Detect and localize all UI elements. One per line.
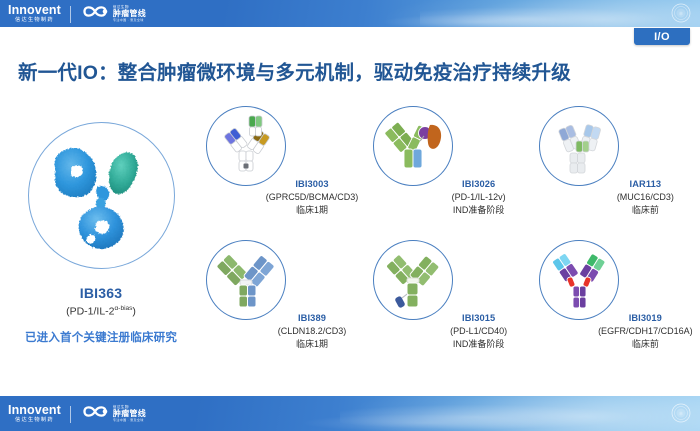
footer-innovent-logo-cn: 信达生物制药 bbox=[15, 418, 54, 423]
footer-oncology-pipeline-logo: 信达生物 肿瘤管线 专注中国 · 惠及全球 bbox=[80, 404, 146, 424]
header-band: Innovent 信达生物制药 信达生物 肿瘤管线 专注中国 · 惠及全球 bbox=[0, 0, 700, 27]
innovent-logo: Innovent 信达生物制药 bbox=[8, 4, 61, 23]
pipeline-card-circle bbox=[206, 240, 286, 320]
protein-structure-icon bbox=[41, 132, 161, 259]
pipeline-card-stage: 临床前 bbox=[585, 204, 700, 216]
pipeline-card-labels: IAR113 (MUC16/CD3) 临床前 bbox=[585, 178, 700, 217]
pipeline-card-name: IAR113 bbox=[585, 178, 700, 191]
pipeline-card-name: IBI3015 bbox=[419, 312, 539, 325]
pipeline-card[interactable]: IBI3015 (PD-L1/CD40) IND准备阶段 bbox=[363, 238, 530, 372]
pipeline-card[interactable]: IBI389 (CLDN18.2/CD3) 临床1期 bbox=[196, 238, 363, 372]
pipeline-card-labels: IBI3026 (PD-1/IL-12v) IND准备阶段 bbox=[419, 178, 539, 217]
pipeline-card-target: (GPRC5D/BCMA/CD3) bbox=[252, 191, 372, 203]
logo-divider bbox=[70, 6, 71, 23]
pipeline-sub-label: 专注中国 · 惠及全球 bbox=[113, 19, 146, 22]
innovent-logo-en: Innovent bbox=[8, 4, 61, 17]
seal-emblem-icon: ⚛ bbox=[671, 3, 691, 23]
pipeline-card-labels: IBI3003 (GPRC5D/BCMA/CD3) 临床1期 bbox=[252, 178, 372, 217]
pipeline-card-labels: IBI389 (CLDN18.2/CD3) 临床1期 bbox=[252, 312, 372, 351]
infinity-icon bbox=[80, 4, 110, 24]
pipeline-card[interactable]: IBI3003 (GPRC5D/BCMA/CD3) 临床1期 bbox=[196, 104, 363, 238]
oncology-pipeline-text: 信达生物 肿瘤管线 专注中国 · 惠及全球 bbox=[113, 6, 146, 23]
pipeline-card-circle bbox=[539, 106, 619, 186]
pipeline-grid: IBI3003 (GPRC5D/BCMA/CD3) 临床1期 bbox=[196, 104, 696, 372]
hero-molecule-name: IBI363 bbox=[80, 285, 122, 301]
pipeline-card-target: (PD-1/IL-12v) bbox=[419, 191, 539, 203]
footer-innovent-logo: Innovent 信达生物制药 bbox=[8, 404, 61, 423]
footer-logo-divider bbox=[70, 406, 71, 423]
pipeline-card-target: (EGFR/CDH17/CD16A) bbox=[585, 325, 700, 337]
hero-status-label: 已进入首个关键注册临床研究 bbox=[25, 329, 177, 345]
hero-circle-frame bbox=[28, 122, 175, 269]
oncology-pipeline-logo: 信达生物 肿瘤管线 专注中国 · 惠及全球 bbox=[80, 4, 146, 24]
pipeline-card[interactable]: IBI3019 (EGFR/CDH17/CD16A) 临床前 bbox=[529, 238, 696, 372]
header-logo-group: Innovent 信达生物制药 信达生物 肿瘤管线 专注中国 · 惠及全球 bbox=[8, 3, 146, 25]
pipeline-card-name: IBI3019 bbox=[585, 312, 700, 325]
innovent-logo-cn: 信达生物制药 bbox=[15, 18, 54, 23]
pipeline-card-circle bbox=[373, 106, 453, 186]
pipeline-card-stage: 临床1期 bbox=[252, 204, 372, 216]
pipeline-card-target: (CLDN18.2/CD3) bbox=[252, 325, 372, 337]
pipeline-card-labels: IBI3015 (PD-L1/CD40) IND准备阶段 bbox=[419, 312, 539, 351]
footer-band: Innovent 信达生物制药 信达生物 肿瘤管线 专注中国 · 惠及全球 bbox=[0, 396, 700, 431]
pipeline-card-target: (PD-L1/CD40) bbox=[419, 325, 539, 337]
pipeline-card-stage: 临床前 bbox=[585, 338, 700, 350]
hero-target-main: (PD-1/IL-2 bbox=[66, 306, 114, 318]
hero-target-end: ) bbox=[132, 306, 136, 318]
pipeline-card-stage: 临床1期 bbox=[252, 338, 372, 350]
antibody-trispecific-purple-icon bbox=[548, 247, 610, 314]
pipeline-card-name: IBI3003 bbox=[252, 178, 372, 191]
antibody-cytokine-fusion-icon bbox=[382, 113, 444, 180]
pipeline-card-name: IBI389 bbox=[252, 312, 372, 325]
footer-wave-decoration bbox=[300, 414, 550, 431]
page-title: 新一代IO：整合肿瘤微环境与多元机制，驱动免疫治疗持续升级 bbox=[18, 56, 571, 85]
antibody-bispecific-icon bbox=[549, 113, 609, 180]
antibody-bispecific-green-blue-icon bbox=[215, 247, 277, 314]
slide-root: Innovent 信达生物制药 信达生物 肿瘤管线 专注中国 · 惠及全球 bbox=[0, 0, 700, 431]
svg-text:⚛: ⚛ bbox=[679, 412, 684, 418]
hero-target-sup: α-bias bbox=[115, 305, 133, 312]
pipeline-card-circle bbox=[373, 240, 453, 320]
pipeline-card[interactable]: IAR113 (MUC16/CD3) 临床前 bbox=[529, 104, 696, 238]
antibody-trispecific-icon bbox=[216, 113, 276, 180]
pipeline-card-circle bbox=[206, 106, 286, 186]
hero-molecule-target: (PD-1/IL-2α-bias) bbox=[66, 305, 136, 318]
infinity-icon bbox=[80, 404, 110, 424]
pipeline-card-target: (MUC16/CD3) bbox=[585, 191, 700, 203]
footer-oncology-pipeline-text: 信达生物 肿瘤管线 专注中国 · 惠及全球 bbox=[113, 406, 146, 423]
pipeline-card-circle bbox=[539, 240, 619, 320]
header-wave-decoration bbox=[380, 14, 580, 27]
pipeline-card-labels: IBI3019 (EGFR/CDH17/CD16A) 临床前 bbox=[585, 312, 700, 351]
pipeline-card[interactable]: IBI3026 (PD-1/IL-12v) IND准备阶段 bbox=[363, 104, 530, 238]
footer-logo-group: Innovent 信达生物制药 信达生物 肿瘤管线 专注中国 · 惠及全球 bbox=[8, 403, 146, 425]
svg-text:⚛: ⚛ bbox=[679, 12, 684, 18]
hero-molecule-card[interactable]: IBI363 (PD-1/IL-2α-bias) 已进入首个关键注册临床研究 bbox=[8, 100, 194, 368]
pipeline-card-stage: IND准备阶段 bbox=[419, 204, 539, 216]
antibody-bispecific-green-icon bbox=[382, 247, 444, 314]
seal-emblem-icon: ⚛ bbox=[671, 403, 691, 423]
io-section-badge[interactable]: I/O bbox=[634, 28, 690, 45]
pipeline-card-stage: IND准备阶段 bbox=[419, 338, 539, 350]
pipeline-card-name: IBI3026 bbox=[419, 178, 539, 191]
footer-pipeline-sub-label: 专注中国 · 惠及全球 bbox=[113, 419, 146, 422]
footer-innovent-logo-en: Innovent bbox=[8, 404, 61, 417]
